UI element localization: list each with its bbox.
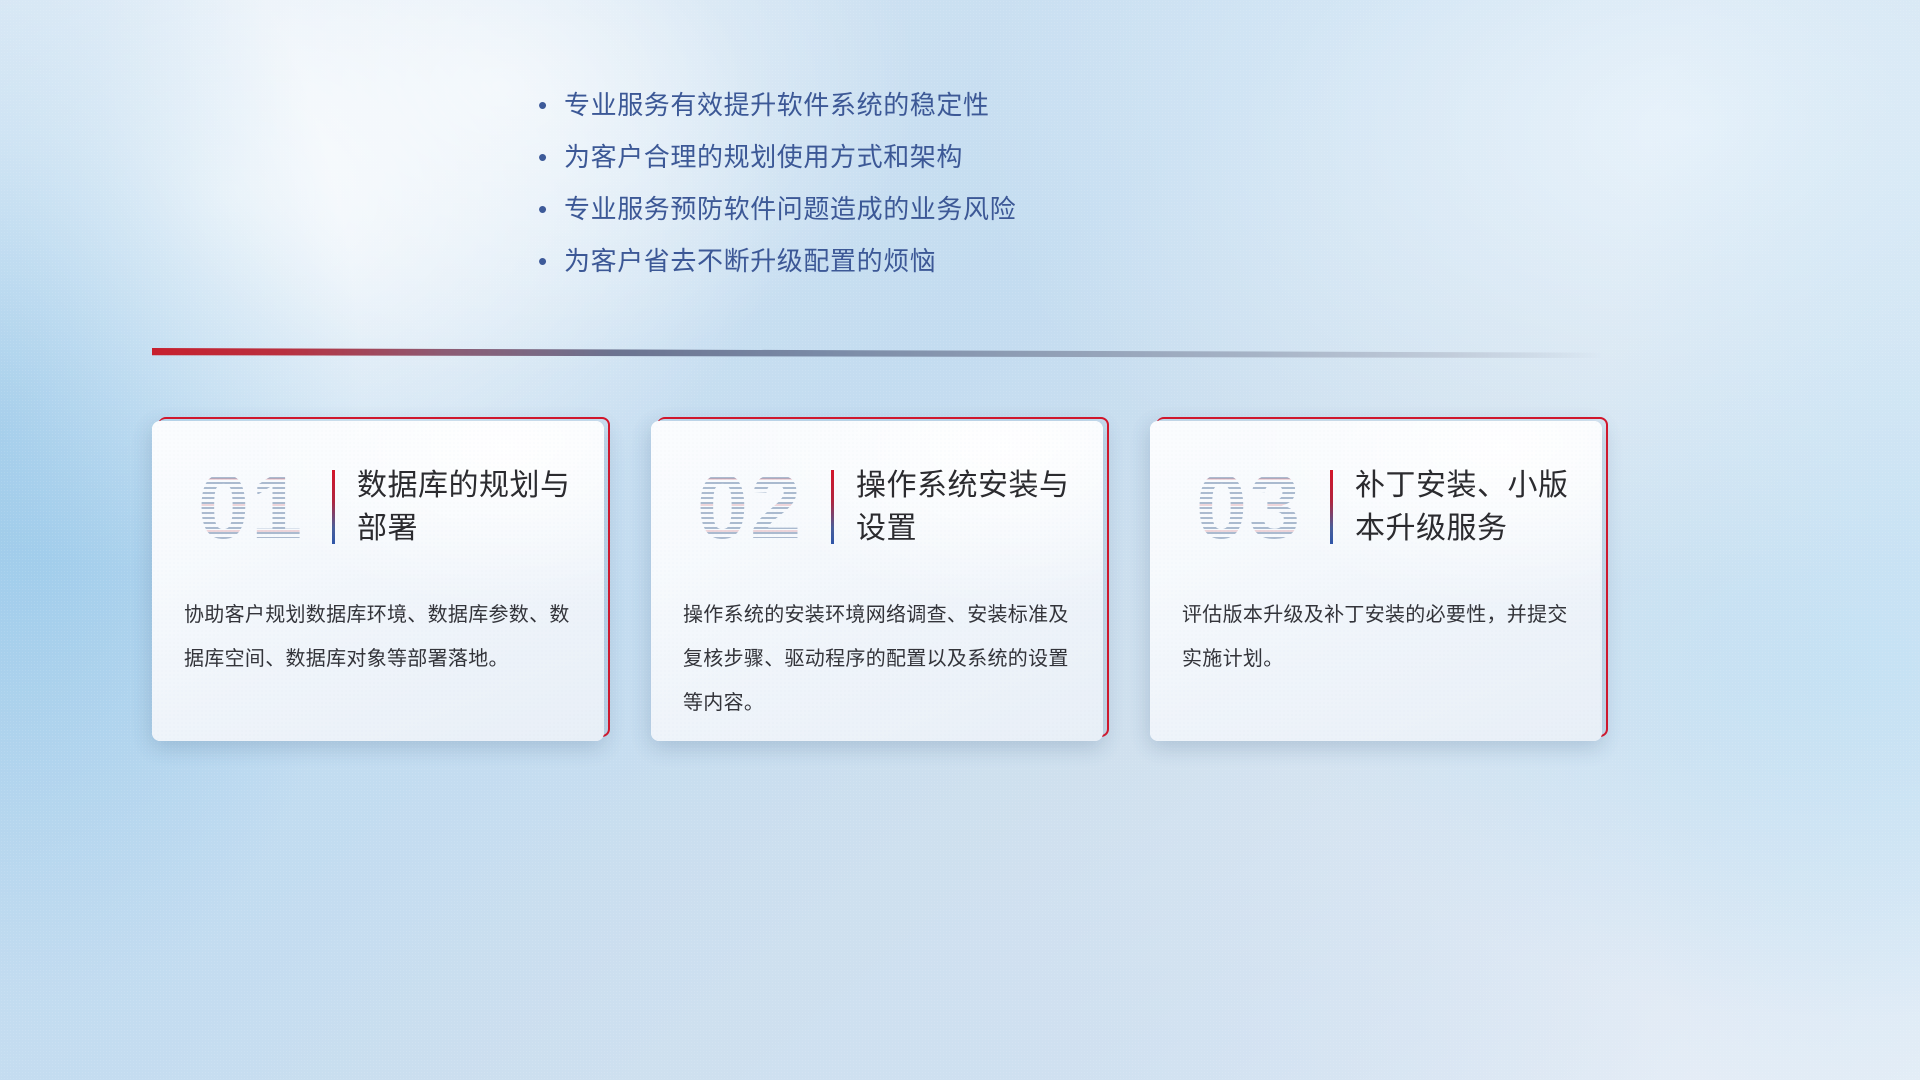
list-item: • 为客户省去不断升级配置的烦恼 [538, 244, 1298, 296]
bullet-dot-icon: • [538, 244, 564, 278]
bullet-text: 为客户省去不断升级配置的烦恼 [564, 244, 936, 278]
card-description: 操作系统的安装环境网络调查、安装标准及复核步骤、驱动程序的配置以及系统的设置等内… [683, 593, 1075, 725]
card-number-watermark: 03 [1174, 452, 1324, 562]
section-divider [152, 348, 1602, 364]
card-header: 03 补丁安装、小版本升级服务 [1150, 447, 1602, 567]
card-description: 协助客户规划数据库环境、数据库参数、数据库空间、数据库对象等部署落地。 [184, 593, 576, 681]
list-item: • 专业服务有效提升软件系统的稳定性 [538, 88, 1298, 140]
card-number-watermark: 02 [675, 452, 825, 562]
service-card-01[interactable]: 01 数据库的规划与部署 协助客户规划数据库环境、数据库参数、数据库空间、数据库… [152, 421, 604, 741]
bullet-dot-icon: • [538, 140, 564, 174]
service-card-03[interactable]: 03 补丁安装、小版本升级服务 评估版本升级及补丁安装的必要性，并提交实施计划。 [1150, 421, 1602, 741]
card-title-rule [332, 470, 335, 544]
service-card-02[interactable]: 02 操作系统安装与设置 操作系统的安装环境网络调查、安装标准及复核步骤、驱动程… [651, 421, 1103, 741]
bullet-dot-icon: • [538, 192, 564, 226]
card-number-watermark: 01 [176, 452, 326, 562]
card-header: 02 操作系统安装与设置 [651, 447, 1103, 567]
card-header: 01 数据库的规划与部署 [152, 447, 604, 567]
list-item: • 专业服务预防软件问题造成的业务风险 [538, 192, 1298, 244]
bullet-dot-icon: • [538, 88, 564, 122]
card-description: 评估版本升级及补丁安装的必要性，并提交实施计划。 [1182, 593, 1574, 681]
benefits-bullet-list: • 专业服务有效提升软件系统的稳定性 • 为客户合理的规划使用方式和架构 • 专… [538, 88, 1298, 296]
service-cards-row: 01 数据库的规划与部署 协助客户规划数据库环境、数据库参数、数据库空间、数据库… [152, 421, 1604, 741]
divider-gradient-bar [152, 348, 1602, 358]
card-title: 补丁安装、小版本升级服务 [1355, 464, 1573, 550]
card-title-rule [831, 470, 834, 544]
card-title-rule [1330, 470, 1333, 544]
slide-canvas: • 专业服务有效提升软件系统的稳定性 • 为客户合理的规划使用方式和架构 • 专… [0, 0, 1920, 1080]
card-title: 操作系统安装与设置 [856, 464, 1074, 550]
bullet-text: 专业服务有效提升软件系统的稳定性 [564, 88, 990, 122]
bullet-text: 专业服务预防软件问题造成的业务风险 [564, 192, 1016, 226]
bullet-text: 为客户合理的规划使用方式和架构 [564, 140, 963, 174]
card-title: 数据库的规划与部署 [357, 464, 575, 550]
list-item: • 为客户合理的规划使用方式和架构 [538, 140, 1298, 192]
